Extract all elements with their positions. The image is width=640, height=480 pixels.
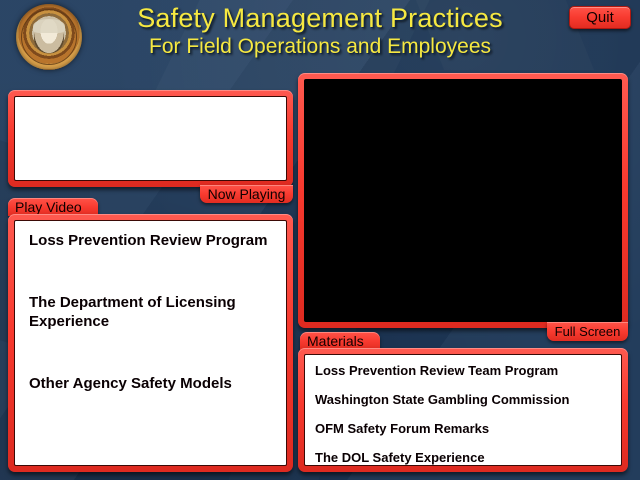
list-item[interactable]: Other Agency Safety Models — [29, 374, 279, 393]
full-screen-button[interactable]: Full Screen — [547, 322, 628, 341]
list-item[interactable]: OFM Safety Forum Remarks — [315, 421, 621, 437]
play-video-panel: Loss Prevention Review Program The Depar… — [8, 214, 293, 472]
play-video-list: Loss Prevention Review Program The Depar… — [15, 221, 286, 393]
list-item[interactable]: Loss Prevention Review Team Program — [315, 363, 621, 379]
now-playing-content — [14, 96, 287, 181]
now-playing-tab: Now Playing — [200, 185, 293, 203]
list-item[interactable]: Washington State Gambling Commission — [315, 392, 621, 408]
list-item[interactable]: Loss Prevention Review Program — [29, 231, 279, 250]
video-screen[interactable] — [304, 79, 622, 322]
materials-panel: Loss Prevention Review Team Program Wash… — [298, 348, 628, 472]
quit-button[interactable]: Quit — [569, 6, 631, 29]
application-window: Safety Management Practices For Field Op… — [0, 0, 640, 480]
washington-state-seal-icon — [16, 4, 82, 70]
header-titles: Safety Management Practices For Field Op… — [100, 2, 540, 60]
list-item[interactable]: The Department of Licensing Experience — [29, 293, 279, 331]
seal-portrait-hair — [33, 19, 65, 33]
video-player-display[interactable] — [298, 73, 628, 328]
list-item[interactable]: The DOL Safety Experience — [315, 450, 621, 466]
materials-list-container: Loss Prevention Review Team Program Wash… — [304, 354, 622, 466]
now-playing-display — [8, 90, 293, 187]
page-subtitle: For Field Operations and Employees — [100, 34, 540, 60]
page-title: Safety Management Practices — [100, 2, 540, 34]
materials-list: Loss Prevention Review Team Program Wash… — [305, 355, 621, 466]
play-video-list-container: Loss Prevention Review Program The Depar… — [14, 220, 287, 466]
